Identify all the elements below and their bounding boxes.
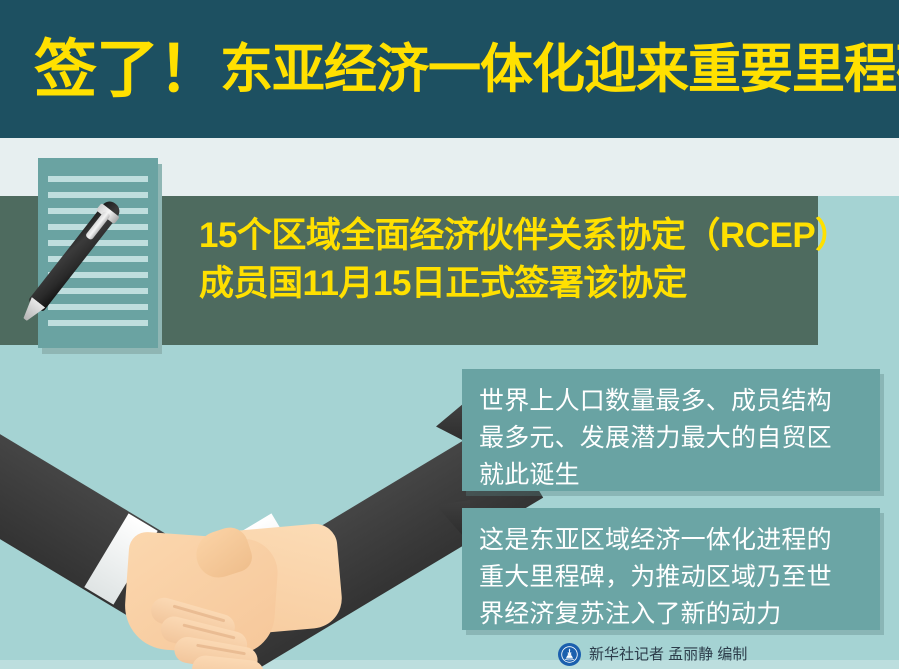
handshake-illustration	[0, 408, 470, 660]
callout-1-line: 世界上人口数量最多、成员结构	[479, 383, 880, 420]
document-text-line	[48, 192, 148, 198]
callout-1: 世界上人口数量最多、成员结构 最多元、发展潜力最大的自贸区 就此诞生	[462, 369, 880, 491]
credit-text: 新华社记者 孟丽静 编制	[589, 643, 747, 666]
banner-line: 成员国11月15日正式签署该协定	[199, 260, 899, 308]
banner-line: 15个区域全面经济伙伴关系协定（RCEP）	[199, 212, 899, 260]
page-title: 签了！东亚经济一体化迎来重要里程碑	[34, 22, 884, 117]
fingers-group	[150, 590, 300, 660]
footer-credit: 新华社记者 孟丽静 编制	[558, 641, 747, 667]
callout-2: 这是东亚区域经济一体化进程的 重大里程碑，为推动区域乃至世 界经济复苏注入了新的…	[462, 508, 880, 630]
xinhua-agency-logo-icon	[558, 643, 581, 666]
callout-1-line: 最多元、发展潜力最大的自贸区	[479, 420, 880, 457]
callout-1-line: 就此诞生	[479, 457, 880, 494]
document-text-line	[48, 288, 148, 294]
page-title-rest: 东亚经济一体化迎来重要里程碑	[220, 35, 899, 105]
signed-document-icon	[38, 158, 162, 354]
callout-2-line: 重大里程碑，为推动区域乃至世	[479, 559, 880, 596]
document-page	[38, 158, 158, 348]
document-text-line	[48, 304, 148, 310]
page-title-lead: 签了！	[34, 35, 220, 105]
document-text-line	[48, 176, 148, 182]
document-text-line	[48, 320, 148, 326]
banner-text: 15个区域全面经济伙伴关系协定（RCEP） 成员国11月15日正式签署该协定	[199, 212, 899, 308]
bottom-strip	[0, 660, 899, 669]
callout-2-line: 界经济复苏注入了新的动力	[479, 596, 880, 633]
infographic-poster: 签了！东亚经济一体化迎来重要里程碑 15个区域全面经济伙伴关系协定（RCEP） …	[0, 0, 899, 669]
callout-2-line: 这是东亚区域经济一体化进程的	[479, 522, 880, 559]
